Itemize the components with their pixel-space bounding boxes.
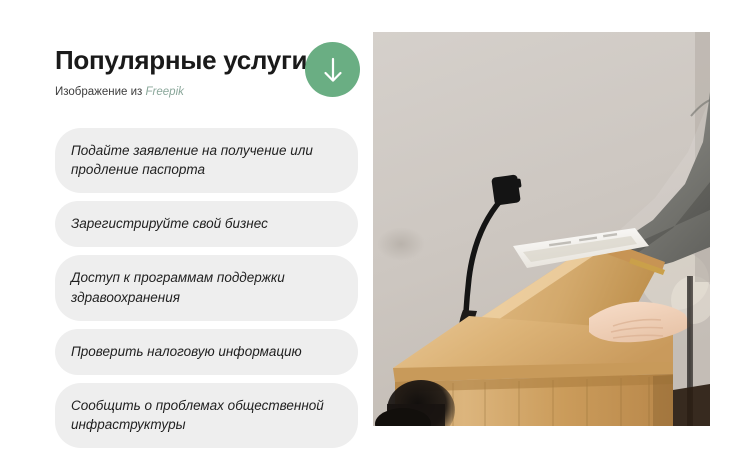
service-list: Подайте заявление на получение или продл…: [55, 128, 358, 448]
list-item[interactable]: Зарегистрируйте свой бизнес: [55, 201, 358, 247]
list-item[interactable]: Сообщить о проблемах общественной инфрас…: [55, 383, 358, 448]
header-row: Популярные услуги Изображение из Freepik: [55, 32, 360, 108]
list-item[interactable]: Доступ к программам поддержки здравоохра…: [55, 255, 358, 320]
podium-photo: [373, 32, 710, 426]
slide-canvas: Популярные услуги Изображение из Freepik…: [0, 0, 750, 460]
attribution: Изображение из Freepik: [55, 86, 184, 98]
download-arrow-button[interactable]: [305, 42, 360, 97]
attribution-prefix: Изображение из: [55, 86, 146, 98]
download-arrow-icon: [319, 55, 347, 85]
list-item[interactable]: Проверить налоговую информацию: [55, 329, 358, 375]
podium-photo-graphic: [373, 32, 710, 426]
freepik-link[interactable]: Freepik: [146, 86, 184, 98]
left-column: Популярные услуги Изображение из Freepik: [55, 32, 360, 108]
page-title: Популярные услуги: [55, 46, 307, 75]
list-item[interactable]: Подайте заявление на получение или продл…: [55, 128, 358, 193]
